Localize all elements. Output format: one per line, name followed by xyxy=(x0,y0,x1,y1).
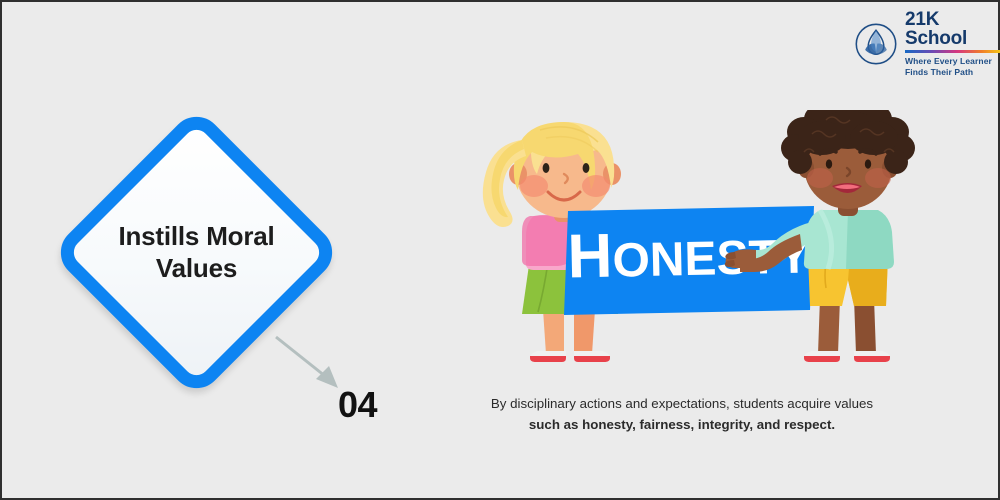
brand-tagline-line1: Where Every Learner xyxy=(905,56,1000,67)
illustration-children-with-banner: HONESTY xyxy=(422,110,942,380)
brand-gradient-bar xyxy=(905,50,1000,53)
lotus-circle-icon xyxy=(854,22,898,66)
slide-canvas: 21K School Where Every Learner Finds The… xyxy=(0,0,1000,500)
caption-text: By disciplinary actions and expectations… xyxy=(422,394,942,435)
brand-tagline-line2: Finds Their Path xyxy=(905,67,1000,78)
brand-name: 21K School xyxy=(905,10,1000,48)
diamond-title-line2: Values xyxy=(156,253,237,283)
brand-logo: 21K School Where Every Learner Finds The… xyxy=(854,10,1000,77)
caption-line1: By disciplinary actions and expectations… xyxy=(422,394,942,415)
step-number: 04 xyxy=(338,384,377,426)
brand-logo-text: 21K School Where Every Learner Finds The… xyxy=(905,10,1000,77)
diamond-title-line1: Instills Moral xyxy=(118,221,274,251)
caption-line2: such as honesty, fairness, integrity, an… xyxy=(422,415,942,436)
